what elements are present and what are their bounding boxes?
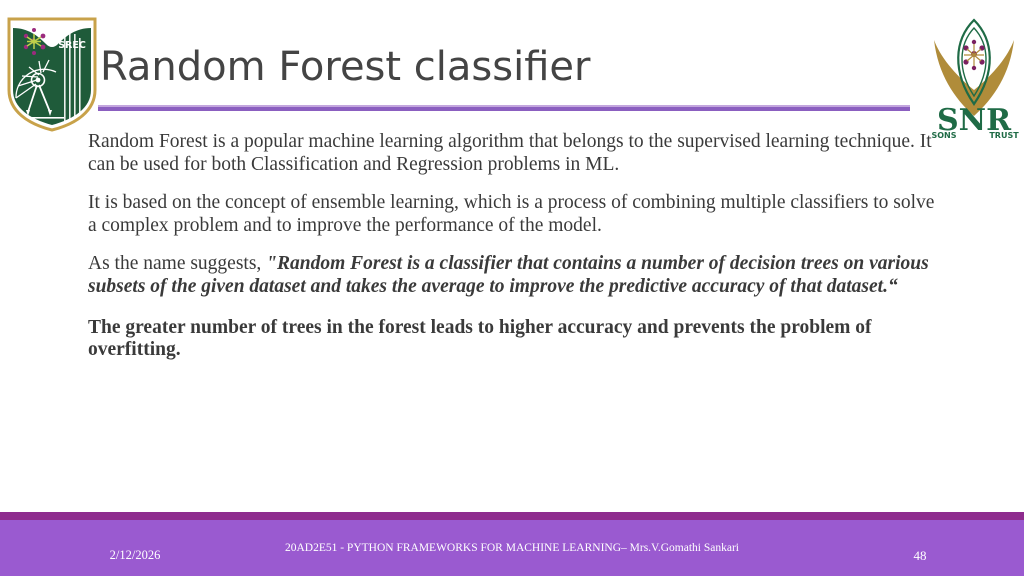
body-paragraph-4: The greater number of trees in the fores…	[88, 317, 936, 362]
footer-date: 2/12/2026	[60, 548, 210, 563]
footer-course-title: 20AD2E51 - PYTHON FRAMEWORKS FOR MACHINE…	[262, 541, 762, 556]
snr-trust-text: TRUST	[989, 131, 1019, 140]
body-paragraph-3: As the name suggests, "Random Forest is …	[88, 253, 936, 298]
title-underline-rule	[98, 105, 910, 111]
body-paragraph-1: Random Forest is a popular machine learn…	[88, 131, 936, 176]
srec-logo-text: SREC	[58, 40, 86, 51]
srec-shield-logo: SREC	[6, 14, 98, 132]
snr-sons-trust-logo: SNR SONS TRUST	[928, 12, 1020, 144]
body-paragraph-2: It is based on the concept of ensemble l…	[88, 192, 936, 237]
page-title: Random Forest classifier	[100, 46, 910, 89]
footer-accent-strip	[0, 512, 1024, 520]
slide-canvas: SREC	[0, 0, 1024, 576]
slide-body: Random Forest is a popular machine learn…	[88, 131, 936, 378]
footer-page-number: 48	[880, 548, 960, 564]
paragraph-3-lead: As the name suggests,	[88, 253, 266, 274]
